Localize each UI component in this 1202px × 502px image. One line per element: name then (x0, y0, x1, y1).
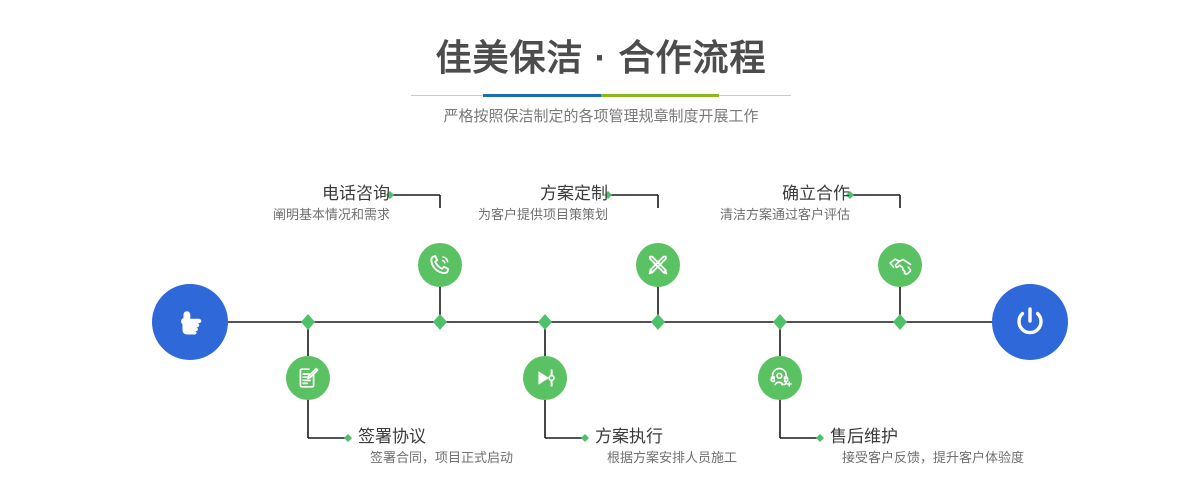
label-bullet-markers (344, 191, 854, 442)
step-label-2: 签署协议 签署合同，项目正式启动 (358, 426, 588, 468)
step-desc-2: 签署合同，项目正式启动 (358, 448, 588, 468)
divider-rule-right (719, 95, 791, 96)
step-icon-1[interactable] (418, 243, 462, 287)
step-label-1: 电话咨询 阐明基本情况和需求 (220, 183, 390, 225)
power-icon (1009, 301, 1051, 343)
customer-service-icon (767, 365, 793, 391)
step-desc-6: 接受客户反馈，提升客户体验度 (830, 448, 1080, 468)
play-skip-icon (532, 365, 558, 391)
handshake-icon (887, 252, 914, 279)
step-title-2: 签署协议 (358, 426, 588, 448)
step-label-4: 方案执行 根据方案安排人员施工 (595, 426, 825, 468)
divider-rule-left (411, 95, 483, 96)
pointing-hand-icon (170, 302, 210, 342)
step-title-3: 方案定制 (438, 183, 608, 205)
page-title: 佳美保洁 · 合作流程 (0, 36, 1202, 80)
divider-segment-green (601, 94, 719, 97)
step-desc-4: 根据方案安排人员施工 (595, 448, 825, 468)
title-divider (411, 94, 791, 97)
step-icon-6[interactable] (758, 356, 802, 400)
pencil-ruler-icon (645, 252, 671, 278)
divider-segment-blue (483, 94, 601, 97)
step-title-4: 方案执行 (595, 426, 825, 448)
document-sign-icon (295, 365, 321, 391)
step-icon-4[interactable] (523, 356, 567, 400)
step-label-3: 方案定制 为客户提供项目策策划 (438, 183, 608, 225)
page-subtitle: 严格按照保洁制定的各项管理规章制度开展工作 (0, 106, 1202, 128)
step-title-1: 电话咨询 (220, 183, 390, 205)
page-header: 佳美保洁 · 合作流程 严格按照保洁制定的各项管理规章制度开展工作 (0, 0, 1202, 150)
step-icon-5[interactable] (878, 243, 922, 287)
flow-start-node[interactable] (152, 284, 228, 360)
step-icon-3[interactable] (636, 243, 680, 287)
step-title-6: 售后维护 (830, 426, 1080, 448)
timeline-flow: 电话咨询 阐明基本情况和需求 方案定制 为客户提供项目策策划 (0, 150, 1202, 502)
flow-end-node[interactable] (992, 284, 1068, 360)
step-title-5: 确立合作 (680, 183, 850, 205)
step-desc-1: 阐明基本情况和需求 (220, 205, 390, 225)
step-desc-3: 为客户提供项目策策划 (438, 205, 608, 225)
process-flow-infographic: 佳美保洁 · 合作流程 严格按照保洁制定的各项管理规章制度开展工作 (0, 0, 1202, 502)
step-icon-2[interactable] (286, 356, 330, 400)
phone-call-icon (427, 252, 453, 278)
step-label-5: 确立合作 清洁方案通过客户评估 (680, 183, 850, 225)
step-label-6: 售后维护 接受客户反馈，提升客户体验度 (830, 426, 1080, 468)
step-desc-5: 清洁方案通过客户评估 (680, 205, 850, 225)
